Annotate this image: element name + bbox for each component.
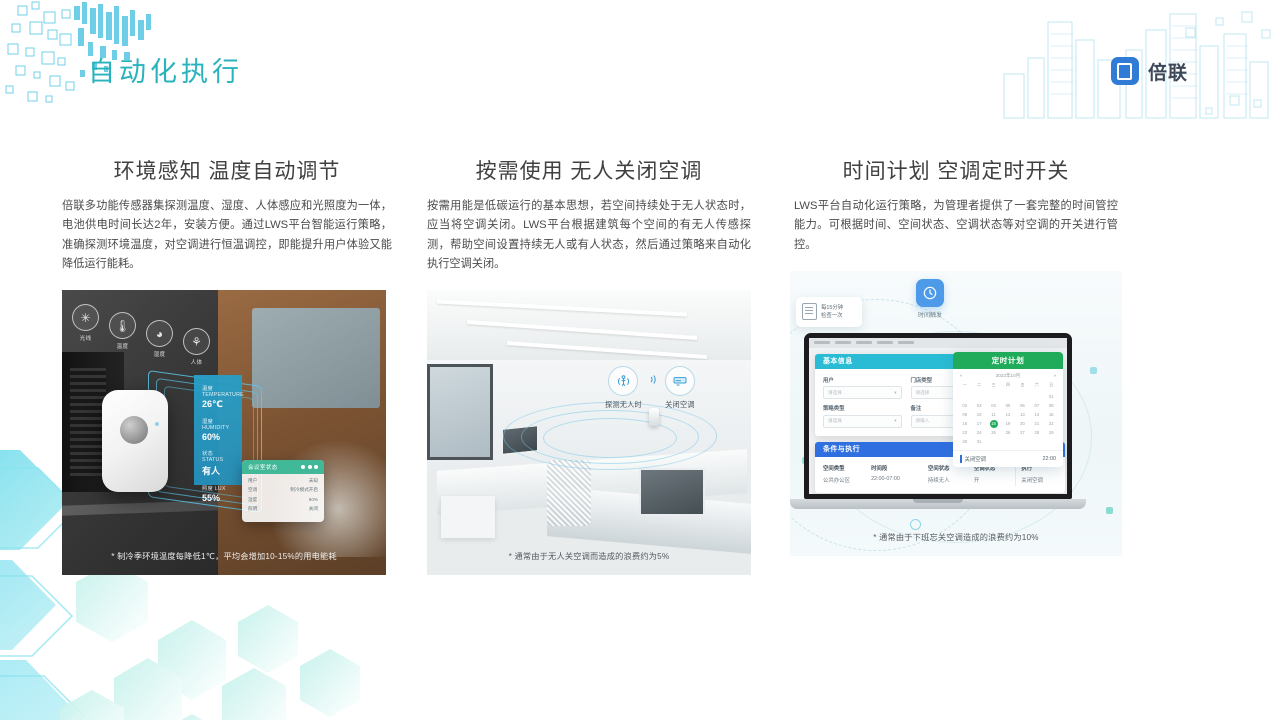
sensor-icon-light-label: 光线 xyxy=(80,334,92,342)
status-row-value: 关闭 xyxy=(309,506,318,512)
photo-mesh-chair xyxy=(547,460,591,526)
calendar-day-empty: · xyxy=(1001,438,1014,446)
column-1-title: 环境感知 温度自动调节 xyxy=(62,155,392,185)
sensor-icon-occupancy: ⚘ 人体 xyxy=(183,328,210,366)
status-row-label: 湿度 xyxy=(248,497,257,503)
status-row-label: 空调 xyxy=(248,487,257,493)
calendar-day-cell[interactable]: 16 xyxy=(958,420,971,428)
calendar-day-cell[interactable]: 22 xyxy=(1045,420,1058,428)
calendar-day-empty: · xyxy=(958,393,971,401)
photo-window xyxy=(427,364,493,460)
calendar-day-cell[interactable]: 02 xyxy=(958,402,971,410)
calendar-prev-button[interactable]: « xyxy=(960,373,963,378)
window-control-dots-icon xyxy=(301,465,318,469)
toolbar-item xyxy=(898,341,914,344)
laptop-mockup: 基本信息 用户 请选择 ▾ xyxy=(804,333,1072,513)
calendar-day-empty: · xyxy=(987,438,1000,446)
calendar-day-cell[interactable]: 01 xyxy=(1045,393,1058,401)
field-strategy-type-placeholder: 请选择 xyxy=(828,418,842,424)
field-user-label: 用户 xyxy=(823,376,902,384)
rounded-square-logo-icon xyxy=(1111,57,1139,85)
interval-note-card: 每15分钟 检查一次 xyxy=(796,297,862,327)
readout-row-temperature: 温度 TEMPERATURE 26℃ xyxy=(202,384,234,410)
calendar-day-cell[interactable]: 31 xyxy=(972,438,985,446)
schedule-panel-title: 定时计划 xyxy=(953,352,1063,369)
field-strategy-type: 策略类型 请选择 ▾ xyxy=(823,404,902,428)
table-cell: 开 xyxy=(974,474,1013,486)
column-time-schedule: 时间计划 空调定时开关 LWS平台自动化运行策略，为管理者提供了一套完整的时间管… xyxy=(790,155,1122,556)
thermometer-icon: 🌡 xyxy=(109,312,136,339)
status-row-label: 照明 xyxy=(248,506,257,512)
readout-row-humidity: 湿度 HUMIDITY 60% xyxy=(202,417,234,442)
calendar-day-empty: · xyxy=(1016,393,1029,401)
status-panel-header: 会议室状态 xyxy=(242,460,324,474)
calendar-day-cell[interactable]: 21 xyxy=(1030,420,1043,428)
photo-vent-grill xyxy=(70,368,106,476)
status-row-value: 未知 xyxy=(309,478,318,484)
calendar-day-cell[interactable]: 03 xyxy=(972,402,985,410)
schedule-action-row: 关闭空调 22:00 xyxy=(953,450,1063,467)
person-motion-icon: ⚘ xyxy=(183,328,210,355)
readout-value: 26℃ xyxy=(202,399,234,410)
readout-key: 状态 STATUS xyxy=(202,449,234,463)
calendar-day-cell[interactable]: 12 xyxy=(1001,411,1014,419)
field-user: 用户 请选择 ▾ xyxy=(823,376,902,400)
sensor-icon-humidity: ◕ 湿度 xyxy=(146,320,173,358)
calendar-next-button[interactable]: » xyxy=(1053,373,1056,378)
status-row-value: 60% xyxy=(309,497,318,503)
weekday-label: 三 xyxy=(987,381,1000,389)
interval-note-line1: 每15分钟 xyxy=(821,305,843,311)
toolbar-item xyxy=(835,341,851,344)
readout-value: 有人 xyxy=(202,464,234,477)
photo-sensor-device xyxy=(102,390,168,492)
calendar-day-cell[interactable]: 15 xyxy=(1045,411,1058,419)
slide-header: 自动化执行 倍联 xyxy=(0,0,1280,120)
calendar-day-grid[interactable]: ······0102030405060708091011121314151617… xyxy=(953,393,1063,450)
field-user-input[interactable]: 请选择 ▾ xyxy=(823,386,902,399)
calendar-day-cell[interactable]: 08 xyxy=(1045,402,1058,410)
overlay-ac-label: 关闭空调 xyxy=(665,400,695,410)
calendar-day-cell[interactable]: 04 xyxy=(987,402,1000,410)
field-strategy-type-input[interactable]: 请选择 ▾ xyxy=(823,415,902,428)
calendar-day-cell[interactable]: 10 xyxy=(972,411,985,419)
sensor-icon-light: ✳ 光线 xyxy=(72,304,99,342)
calendar-day-cell[interactable]: 29 xyxy=(1045,429,1058,437)
checklist-search-icon xyxy=(802,303,817,320)
content-columns: 环境感知 温度自动调节 倍联多功能传感器集探测温度、湿度、人体感应和光照度为一体… xyxy=(0,155,1280,585)
calendar-nav: « 2023年10月 » xyxy=(953,369,1063,381)
toolbar-item xyxy=(814,341,830,344)
column-on-demand-usage: 按需使用 无人关闭空调 按需用能是低碳运行的基本思想，若空间持续处于无人状态时，… xyxy=(427,155,751,575)
schedule-calendar-panel: 定时计划 « 2023年10月 » 一 二 三 xyxy=(953,352,1063,467)
column-3-title: 时间计划 空调定时开关 xyxy=(790,155,1122,185)
sensor-icon-occupancy-label: 人体 xyxy=(191,358,203,366)
meeting-room-status-panel: 会议室状态 用户 未知 空调 制冷模式开启 湿度 xyxy=(242,460,324,522)
status-panel-title: 会议室状态 xyxy=(248,463,277,471)
table-header-cell: 空间类型 xyxy=(823,462,869,474)
weekday-label: 日 xyxy=(1045,381,1058,389)
calendar-day-empty: · xyxy=(1030,393,1043,401)
calendar-day-empty: · xyxy=(1030,438,1043,446)
calendar-day-cell[interactable]: 28 xyxy=(1030,429,1043,437)
table-header-cell: 时间段 xyxy=(871,462,926,474)
photo-occupancy-sensor xyxy=(649,408,659,426)
schedule-action-time: 22:00 xyxy=(1043,456,1057,462)
sensor-lens-icon xyxy=(120,416,148,444)
status-row: 空调 制冷模式开启 xyxy=(248,487,318,493)
decorative-circle-dot xyxy=(910,519,921,530)
status-row-value: 制冷模式开启 xyxy=(290,487,318,493)
column-2-body: 按需用能是低碳运行的基本思想，若空间持续处于无人状态时，应当将空调关闭。LWS平… xyxy=(427,197,751,274)
calendar-day-empty: · xyxy=(1016,438,1029,446)
sensor-icon-temperature-label: 温度 xyxy=(117,342,129,350)
calendar-month-label[interactable]: 2023年10月 xyxy=(996,373,1021,379)
readout-value: 55% xyxy=(202,493,234,503)
figure-laptop-schedule-dashboard: 时间触发 每15分钟 检查一次 xyxy=(790,271,1122,556)
chevron-down-icon: ▾ xyxy=(894,390,896,396)
column-environment-sensing: 环境感知 温度自动调节 倍联多功能传感器集探测温度、湿度、人体感应和光照度为一体… xyxy=(62,155,392,575)
laptop-base xyxy=(790,499,1086,509)
calendar-day-cell[interactable]: 17 xyxy=(972,420,985,428)
air-conditioner-icon xyxy=(665,366,695,396)
calendar-day-cell[interactable]: 27 xyxy=(1016,429,1029,437)
status-row: 湿度 60% xyxy=(248,497,318,503)
toolbar-item xyxy=(877,341,893,344)
status-row: 用户 未知 xyxy=(248,478,318,484)
table-cell: 公共办公区 xyxy=(823,474,869,486)
sensor-capability-icons: ✳ 光线 🌡 温度 ◕ 湿度 ⚘ 人体 xyxy=(72,304,210,342)
status-panel-body: 用户 未知 空调 制冷模式开启 湿度 60% 照明 xyxy=(242,474,324,520)
calendar-day-cell[interactable]: 24 xyxy=(972,429,985,437)
browser-toolbar xyxy=(809,338,1067,348)
calendar-day-cell[interactable]: 30 xyxy=(958,438,971,446)
photo-cabinet xyxy=(441,496,495,538)
calendar-day-cell[interactable]: 06 xyxy=(1016,402,1029,410)
column-3-body: LWS平台自动化运行策略，为管理者提供了一套完整的时间管控能力。可根据时间、空间… xyxy=(790,197,1122,255)
decorative-square-dot xyxy=(1106,507,1113,514)
calendar-day-cell[interactable]: 25 xyxy=(987,429,1000,437)
table-cell: 22:00-07:00 xyxy=(871,474,926,486)
calendar-day-empty: · xyxy=(1001,393,1014,401)
calendar-day-cell[interactable]: 11 xyxy=(987,411,1000,419)
calendar-day-cell[interactable]: 14 xyxy=(1030,411,1043,419)
sensor-readout-card: 温度 TEMPERATURE 26℃ 湿度 HUMIDITY 60% 状态 ST… xyxy=(194,375,242,485)
readout-key: 温度 TEMPERATURE xyxy=(202,384,234,398)
calendar-weekday-row: 一 二 三 四 五 六 日 xyxy=(953,381,1063,393)
weekday-label: 六 xyxy=(1030,381,1043,389)
field-strategy-type-label: 策略类型 xyxy=(823,404,902,412)
wifi-wave-icon xyxy=(647,373,660,389)
figure-1-caption: * 制冷季环境温度每降低1℃，平均会增加10-15%的用电能耗 xyxy=(62,550,386,562)
weekday-label: 一 xyxy=(958,381,971,389)
table-cell: 关闭空调 xyxy=(1015,474,1057,486)
overlay-detect-label: 探测无人时 xyxy=(605,400,642,410)
slide-root: 自动化执行 倍联 环境感知 温度自动调节 倍联多功能传感器集探测温度、湿度、人体… xyxy=(0,0,1280,720)
sensor-icon-humidity-label: 湿度 xyxy=(154,350,166,358)
table-row: 公共办公区 22:00-07:00 持续无人 开 关闭空调 xyxy=(823,474,1057,486)
field-store-type-placeholder: 请选择 xyxy=(916,390,930,396)
calendar-day-cell[interactable]: 18 xyxy=(990,420,998,428)
schedule-action-label: 关闭空调 xyxy=(960,455,986,463)
sensor-led-icon xyxy=(155,422,159,426)
readout-row-status: 状态 STATUS 有人 xyxy=(202,449,234,477)
figure-2-caption: * 通常由于无人关空调而造成的浪费约为5% xyxy=(427,550,751,562)
weekday-label: 五 xyxy=(1016,381,1029,389)
status-row: 照明 关闭 xyxy=(248,506,318,512)
laptop-screen: 基本信息 用户 请选择 ▾ xyxy=(809,338,1067,494)
column-2-title: 按需使用 无人关闭空调 xyxy=(427,155,751,185)
time-trigger-label: 时间触发 xyxy=(918,310,942,319)
brand-name: 倍联 xyxy=(1148,58,1188,85)
overlay-turn-off-ac: 关闭空调 xyxy=(665,366,695,410)
column-1-body: 倍联多功能传感器集探测温度、湿度、人体感应和光照度为一体，电池供电时间长达2年，… xyxy=(62,197,392,274)
status-row-label: 用户 xyxy=(248,478,257,484)
readout-key: 湿度 HUMIDITY xyxy=(202,417,234,431)
calendar-day-cell[interactable]: 19 xyxy=(1001,420,1014,428)
photo-whiteboard xyxy=(252,308,380,408)
chevron-down-icon: ▾ xyxy=(894,418,896,424)
occupancy-overlay: 探测无人时 关闭空调 xyxy=(605,366,695,410)
clock-icon xyxy=(916,279,944,307)
field-remark-placeholder: 请输入 xyxy=(916,418,930,424)
calendar-day-cell[interactable]: 05 xyxy=(1001,402,1014,410)
sun-icon: ✳ xyxy=(72,304,99,331)
calendar-day-cell[interactable]: 07 xyxy=(1030,402,1043,410)
page-title: 自动化执行 xyxy=(88,50,243,89)
table-cell: 持续无人 xyxy=(928,474,972,486)
photo-laptop xyxy=(639,468,705,516)
toolbar-item xyxy=(856,341,872,344)
calendar-day-cell[interactable]: 20 xyxy=(1016,420,1029,428)
decorative-square-dot xyxy=(1090,367,1097,374)
figure-office-occupancy-photo: 探测无人时 关闭空调 xyxy=(427,290,751,575)
brand-logo: 倍联 xyxy=(1111,57,1188,85)
water-drop-icon: ◕ xyxy=(146,320,173,347)
calendar-day-cell[interactable]: 23 xyxy=(958,429,971,437)
readout-row-lux: 照度 LUX 55% xyxy=(202,484,234,503)
readout-key: 照度 LUX xyxy=(202,484,234,492)
figure-3-caption: * 通常由于下班忘关空调造成的浪费约为10% xyxy=(790,531,1122,543)
calendar-day-empty: · xyxy=(987,393,1000,401)
time-trigger-badge: 时间触发 xyxy=(916,279,944,319)
occupancy-sensor-icon xyxy=(608,366,638,396)
figure-sensor-wall-photo: ✳ 光线 🌡 温度 ◕ 湿度 ⚘ 人体 xyxy=(62,290,386,575)
field-user-placeholder: 请选择 xyxy=(828,390,842,396)
overlay-detect-no-person: 探测无人时 xyxy=(605,366,642,410)
weekday-label: 四 xyxy=(1001,381,1014,389)
calendar-day-cell[interactable]: 26 xyxy=(1001,429,1014,437)
readout-value: 60% xyxy=(202,432,234,442)
weekday-label: 二 xyxy=(972,381,985,389)
calendar-day-empty: · xyxy=(1045,438,1058,446)
interval-note-text: 每15分钟 检查一次 xyxy=(821,304,843,320)
calendar-day-cell[interactable]: 09 xyxy=(958,411,971,419)
calendar-day-cell[interactable]: 13 xyxy=(1016,411,1029,419)
laptop-lid: 基本信息 用户 请选择 ▾ xyxy=(804,333,1072,499)
interval-note-line2: 检查一次 xyxy=(821,313,843,319)
calendar-day-empty: · xyxy=(972,393,985,401)
sensor-icon-temperature: 🌡 温度 xyxy=(109,312,136,350)
